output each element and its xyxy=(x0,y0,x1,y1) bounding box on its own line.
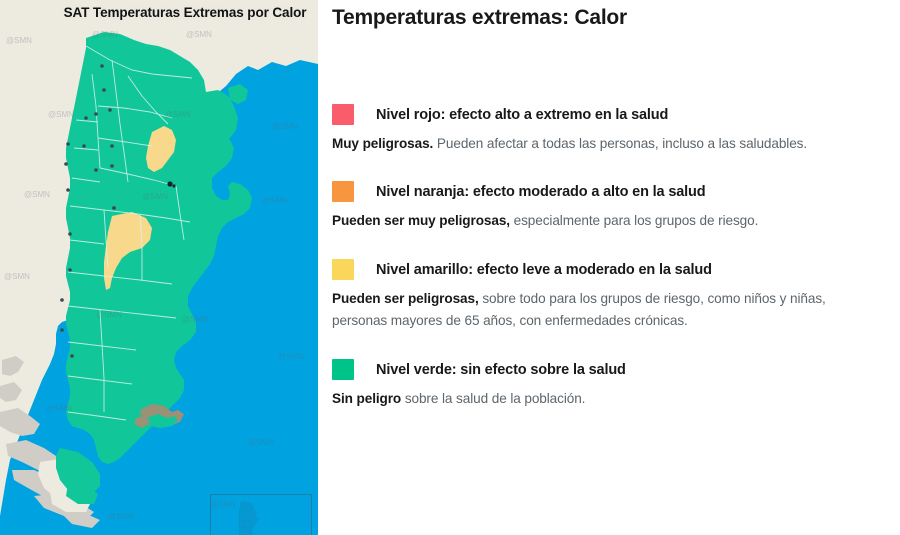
page-title: Temperaturas extremas: Calor xyxy=(332,4,882,32)
alert-level-list: Nivel rojo: efecto alto a extremo en la … xyxy=(332,104,882,410)
alert-level-amarillo: Nivel amarillo: efecto leve a moderado e… xyxy=(332,259,882,332)
alert-level-verde-lead: Sin peligro xyxy=(332,391,401,406)
map-reference-inset xyxy=(210,494,312,535)
alert-level-naranja-header: Nivel naranja: efecto moderado a alto en… xyxy=(332,181,882,202)
alert-level-naranja-title: Nivel naranja: efecto moderado a alto en… xyxy=(376,182,705,202)
color-swatch-naranja-icon xyxy=(332,181,354,202)
alert-level-verde-header: Nivel verde: sin efecto sobre la salud xyxy=(332,359,882,380)
alert-level-rojo-title: Nivel rojo: efecto alto a extremo en la … xyxy=(376,105,668,125)
heat-alert-screen: SAT Temperaturas Extremas por Calor @SMN… xyxy=(0,0,900,535)
alert-level-verde-description: Sin peligro sobre la salud de la poblaci… xyxy=(332,388,872,410)
alert-level-rojo: Nivel rojo: efecto alto a extremo en la … xyxy=(332,104,882,155)
alert-level-verde: Nivel verde: sin efecto sobre la salud S… xyxy=(332,359,882,410)
color-swatch-rojo-icon xyxy=(332,104,354,125)
alert-level-naranja-description: Pueden ser muy peligrosas, especialmente… xyxy=(332,210,872,232)
alert-level-naranja: Nivel naranja: efecto moderado a alto en… xyxy=(332,181,882,232)
alert-level-amarillo-title: Nivel amarillo: efecto leve a moderado e… xyxy=(376,260,712,280)
alert-level-rojo-lead: Muy peligrosas. xyxy=(332,136,433,151)
alert-level-rojo-description: Muy peligrosas. Pueden afectar a todas l… xyxy=(332,133,872,155)
color-swatch-verde-icon xyxy=(332,359,354,380)
alert-level-naranja-body: especialmente para los grupos de riesgo. xyxy=(510,213,758,228)
argentina-alert-map[interactable] xyxy=(0,0,318,535)
alert-level-amarillo-description: Pueden ser peligrosas, sobre todo para l… xyxy=(332,288,872,332)
alert-level-verde-title: Nivel verde: sin efecto sobre la salud xyxy=(376,360,626,380)
alert-map-panel[interactable]: SAT Temperaturas Extremas por Calor @SMN… xyxy=(0,0,318,535)
legend-panel: Temperaturas extremas: Calor Nivel rojo:… xyxy=(318,0,900,535)
color-swatch-amarillo-icon xyxy=(332,259,354,280)
alert-level-naranja-lead: Pueden ser muy peligrosas, xyxy=(332,213,510,228)
map-title: SAT Temperaturas Extremas por Calor xyxy=(0,5,318,20)
alert-level-amarillo-lead: Pueden ser peligrosas, xyxy=(332,291,479,306)
alert-level-rojo-header: Nivel rojo: efecto alto a extremo en la … xyxy=(332,104,882,125)
alert-level-verde-body: sobre la salud de la población. xyxy=(401,391,585,406)
alert-level-rojo-body: Pueden afectar a todas las personas, inc… xyxy=(433,136,807,151)
alert-level-amarillo-header: Nivel amarillo: efecto leve a moderado e… xyxy=(332,259,882,280)
